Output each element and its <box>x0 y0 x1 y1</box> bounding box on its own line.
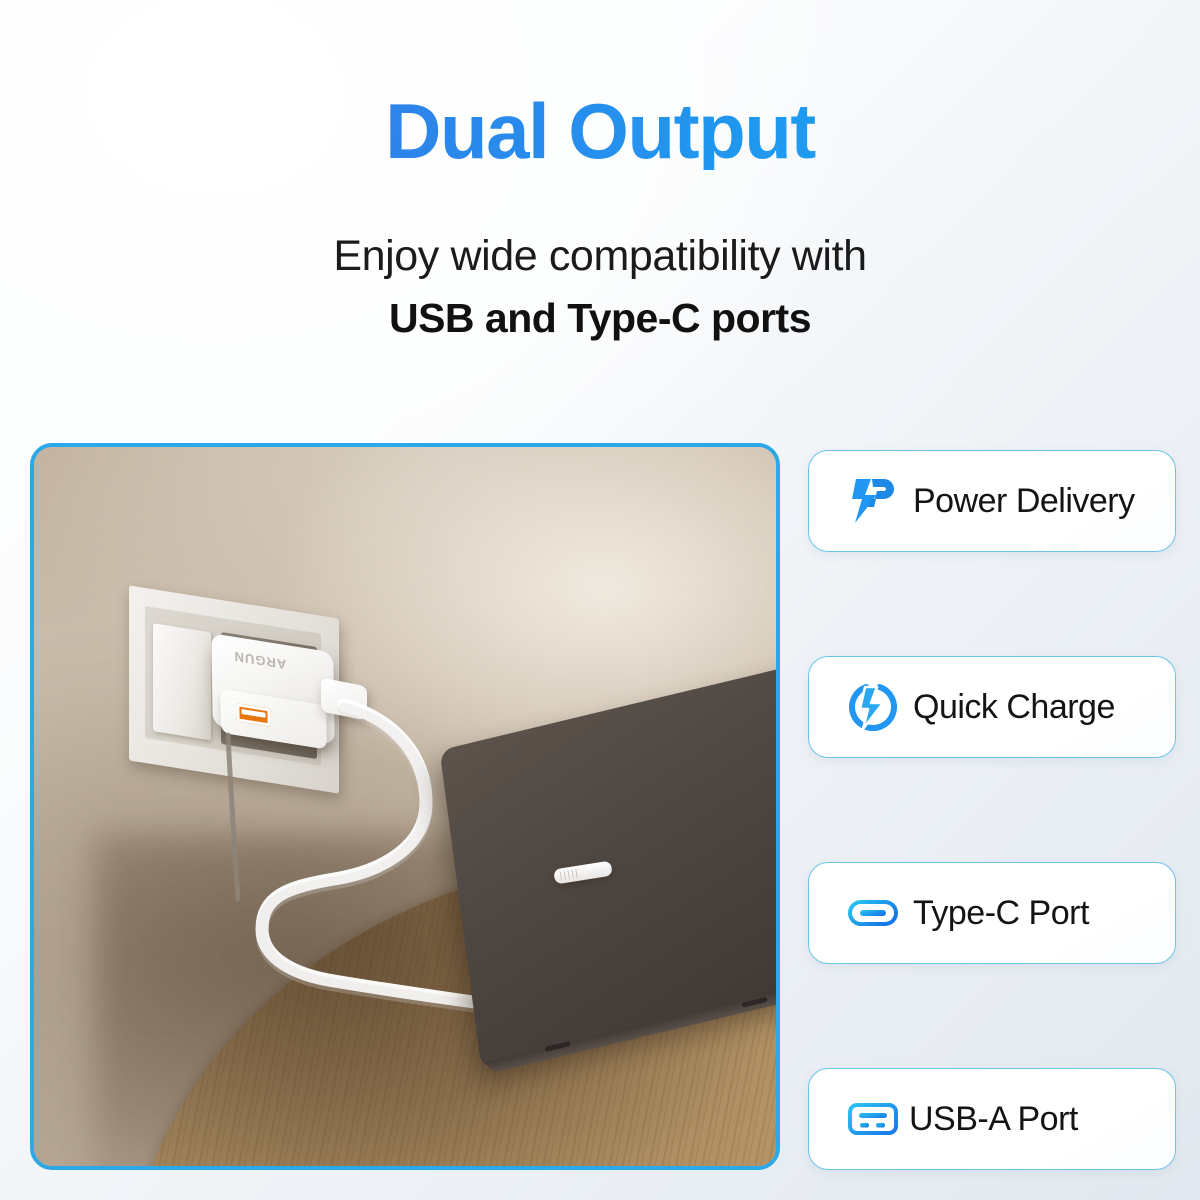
photo-scene: ARGUN <box>34 447 776 1166</box>
subtitle: Enjoy wide compatibility with USB and Ty… <box>0 230 1200 345</box>
feature-card-usb-a-port[interactable]: USB-A Port <box>808 1068 1176 1170</box>
usb-a-port-icon <box>847 1093 899 1145</box>
feature-card-label: Quick Charge <box>913 688 1115 727</box>
feature-card-quick-charge[interactable]: Quick Charge <box>808 656 1176 758</box>
wall-charger: ARGUN <box>211 633 335 745</box>
feature-card-label: Power Delivery <box>913 482 1135 521</box>
feature-card-label: Type-C Port <box>913 894 1089 933</box>
charger-brand-label: ARGUN <box>233 649 286 672</box>
promo-banner: Dual Output Enjoy wide compatibility wit… <box>0 0 1200 1200</box>
quick-charge-icon <box>847 681 899 733</box>
subtitle-line-2: USB and Type-C ports <box>0 292 1200 345</box>
subtitle-line-1: Enjoy wide compatibility with <box>0 230 1200 284</box>
header: Dual Output Enjoy wide compatibility wit… <box>0 92 1200 345</box>
light-switch <box>153 623 211 740</box>
power-delivery-icon <box>847 475 899 527</box>
page-title: Dual Output <box>0 92 1200 170</box>
feature-card-power-delivery[interactable]: Power Delivery <box>808 450 1176 552</box>
type-c-port-icon <box>847 887 899 939</box>
product-photo: ARGUN <box>30 443 780 1170</box>
feature-card-list: Power Delivery Quick Charge <box>808 450 1176 1170</box>
charger-usb-a-port <box>236 703 270 726</box>
feature-card-type-c-port[interactable]: Type-C Port <box>808 862 1176 964</box>
feature-card-label: USB-A Port <box>909 1100 1078 1139</box>
